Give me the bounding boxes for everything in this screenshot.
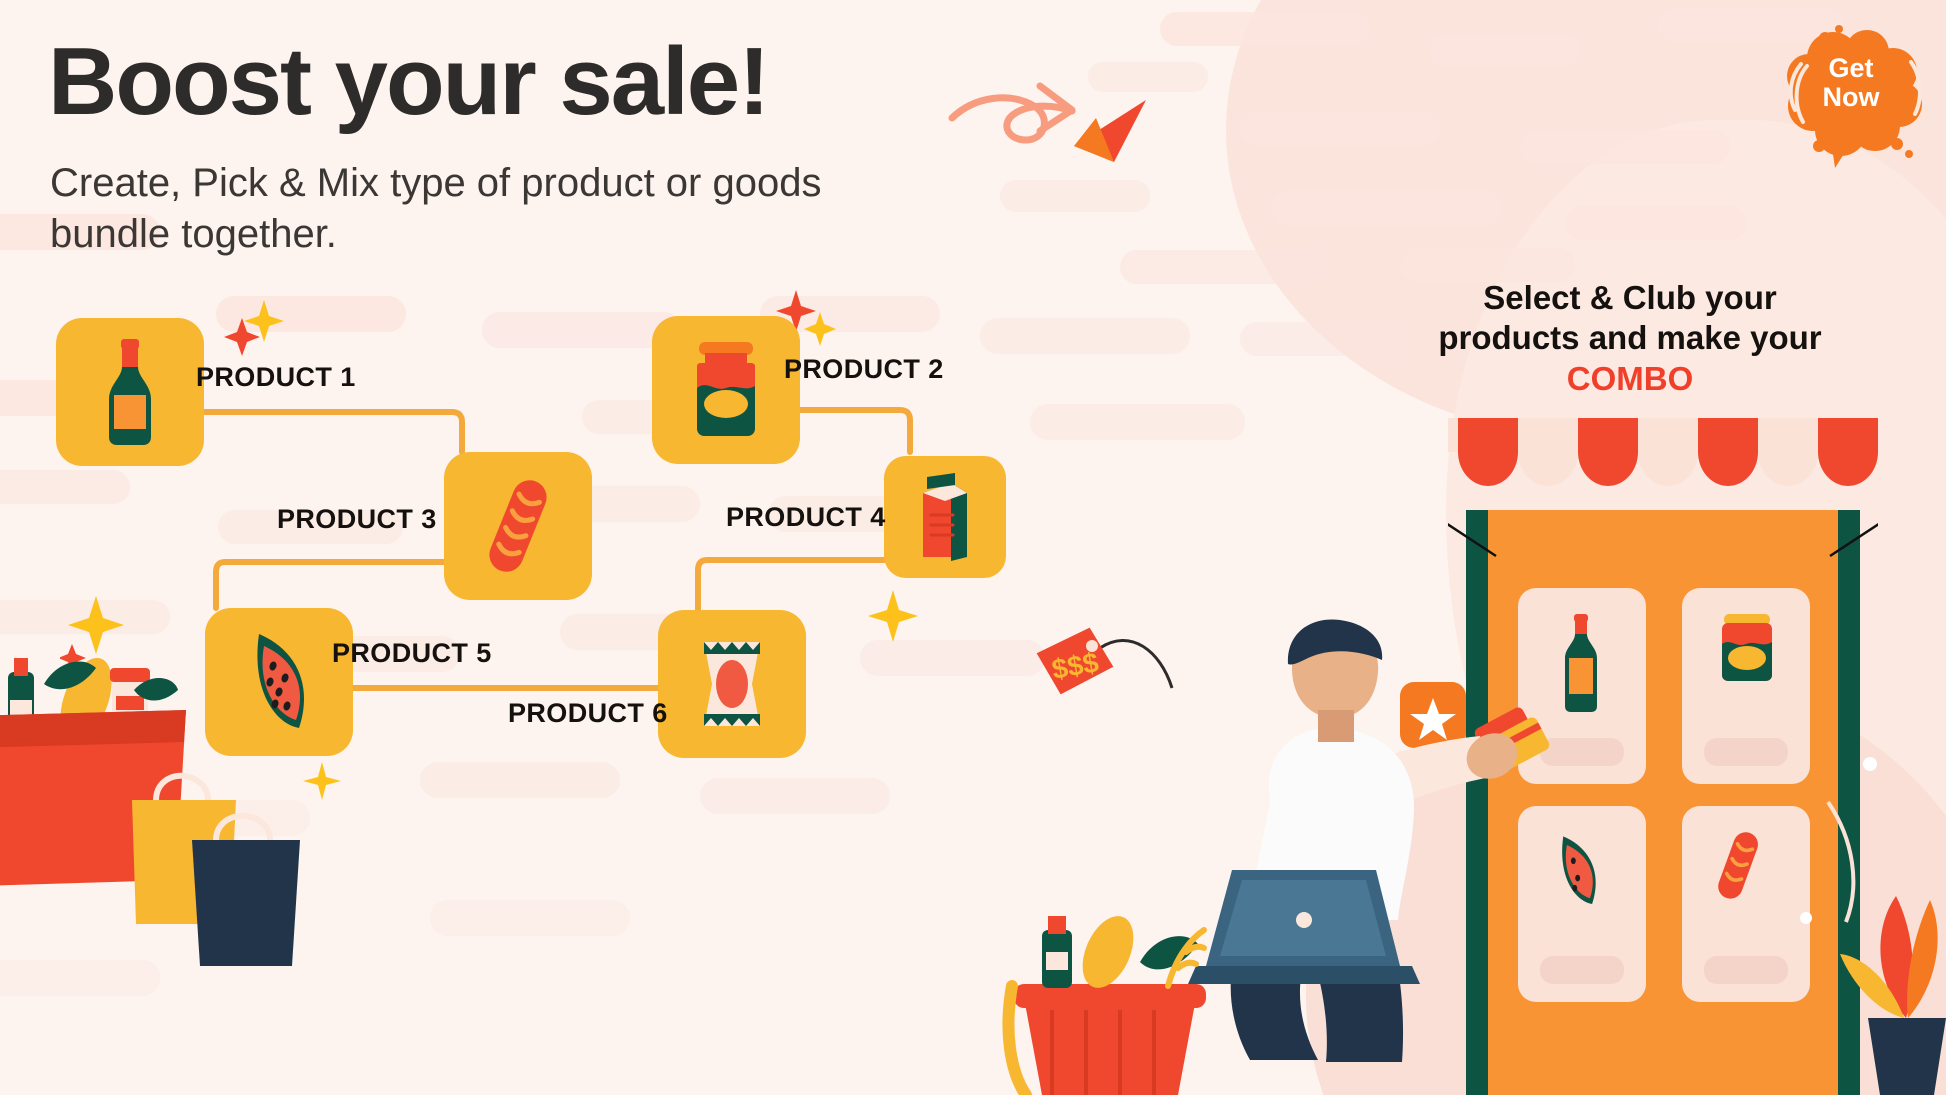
storefront xyxy=(1448,418,1878,1095)
get-now-badge[interactable]: Get Now xyxy=(1775,18,1927,170)
brick-shape xyxy=(0,960,160,996)
brick-shape xyxy=(1566,206,1746,240)
brick-shape xyxy=(1088,62,1208,92)
speech-bubble-icon xyxy=(1775,18,1927,170)
page-subtitle: Create, Pick & Mix type of product or go… xyxy=(50,158,950,260)
product-tile-5[interactable] xyxy=(205,608,353,756)
page-title: Boost your sale! xyxy=(48,32,768,133)
brick-shape xyxy=(1120,250,1330,284)
product-label-2: PRODUCT 2 xyxy=(784,354,944,385)
bread-baguette-icon xyxy=(479,474,557,578)
brick-shape xyxy=(120,800,310,836)
brick-shape xyxy=(1240,322,1410,356)
brick-shape xyxy=(700,778,890,814)
right-heading-line-2: products and make your xyxy=(1438,319,1821,356)
wine-bottle-icon xyxy=(91,337,169,447)
shelf-card xyxy=(1682,588,1810,784)
right-heading-combo: COMBO xyxy=(1567,360,1694,397)
product-tile-1[interactable] xyxy=(56,318,204,466)
product-label-5: PRODUCT 5 xyxy=(332,638,492,669)
brick-shape xyxy=(1160,12,1370,46)
brick-shape xyxy=(1240,112,1440,146)
shelf-card xyxy=(1518,588,1646,784)
sparkle-icon xyxy=(222,292,286,356)
brick-shape xyxy=(1000,180,1150,212)
jam-jar-icon xyxy=(1722,614,1772,681)
right-heading-line-1: Select & Club your xyxy=(1483,279,1776,316)
brick-shape xyxy=(0,470,130,504)
brick-shape xyxy=(1430,34,1580,66)
brick-shape xyxy=(980,318,1190,354)
jam-jar-icon xyxy=(683,342,769,438)
shelf-card xyxy=(1518,806,1646,1002)
product-label-6: PRODUCT 6 xyxy=(508,698,668,729)
product-label-1: PRODUCT 1 xyxy=(196,362,356,393)
brick-shape xyxy=(1520,130,1730,164)
sparkle-icon xyxy=(60,592,132,664)
brick-shape xyxy=(430,900,630,936)
snack-bag-icon xyxy=(686,632,778,736)
product-label-3: PRODUCT 3 xyxy=(277,504,437,535)
product-tile-6[interactable] xyxy=(658,610,806,758)
brick-shape xyxy=(1272,190,1502,226)
store-awning xyxy=(1448,418,1878,486)
shelf-card xyxy=(1682,806,1810,1002)
brick-shape xyxy=(420,762,620,798)
product-label-4: PRODUCT 4 xyxy=(726,502,886,533)
promo-banner: Boost your sale! Create, Pick & Mix type… xyxy=(0,0,1946,1095)
product-tile-2[interactable] xyxy=(652,316,800,464)
sparkle-icon xyxy=(862,586,924,648)
brick-shape xyxy=(1030,404,1245,440)
brick-shape xyxy=(1400,248,1575,282)
milk-carton-icon xyxy=(909,471,981,563)
sparkle-icon xyxy=(300,760,344,804)
product-tile-4[interactable] xyxy=(884,456,1006,578)
right-panel-heading: Select & Club your products and make you… xyxy=(1395,278,1865,399)
watermelon-slice-icon xyxy=(235,628,323,736)
product-tile-3[interactable] xyxy=(444,452,592,600)
